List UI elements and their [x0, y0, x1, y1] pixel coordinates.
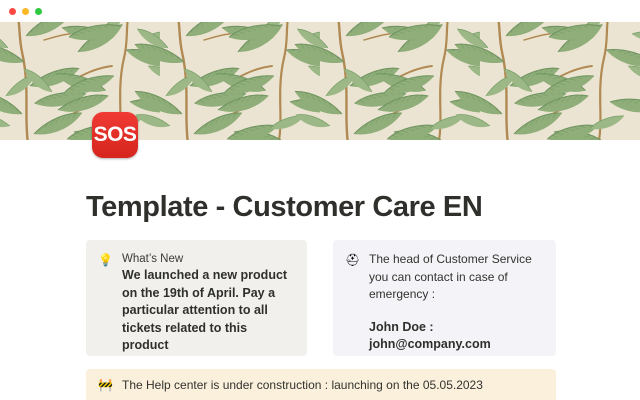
callout-emergency-body: The head of Customer Service you can con… [369, 251, 543, 354]
window-titlebar [0, 0, 640, 22]
light-bulb-icon: 💡 [98, 252, 115, 268]
callout-spacer [369, 304, 543, 319]
emergency-contact-details: John Doe : john@company.com [369, 319, 543, 354]
callout-whats-new-text: We launched a new product on the 19th of… [122, 267, 294, 355]
callout-whats-new-label: What’s New [122, 251, 294, 267]
callout-whats-new-body: What’s New We launched a new product on … [122, 251, 294, 355]
notion-page-window: SOS Template - Customer Care EN 💡 What’s… [0, 0, 640, 400]
callout-emergency-contact[interactable]: ⛑ The head of Customer Service you can c… [333, 240, 556, 356]
construction-sign-icon: 🚧 [98, 377, 115, 393]
callout-emergency-text: The head of Customer Service you can con… [369, 251, 543, 304]
callout-whats-new[interactable]: 💡 What’s New We launched a new product o… [86, 240, 307, 356]
maximize-window-button[interactable] [35, 8, 42, 15]
help-center-banner[interactable]: 🚧 The Help center is under construction … [86, 369, 556, 400]
page-title[interactable]: Template - Customer Care EN [86, 190, 586, 224]
minimize-window-button[interactable] [22, 8, 29, 15]
sos-icon[interactable]: SOS [92, 112, 138, 158]
help-center-banner-text: The Help center is under construction : … [122, 377, 483, 393]
sos-icon-label: SOS [94, 123, 137, 147]
rescue-worker-helmet-icon: ⛑ [345, 252, 362, 268]
close-window-button[interactable] [9, 8, 16, 15]
